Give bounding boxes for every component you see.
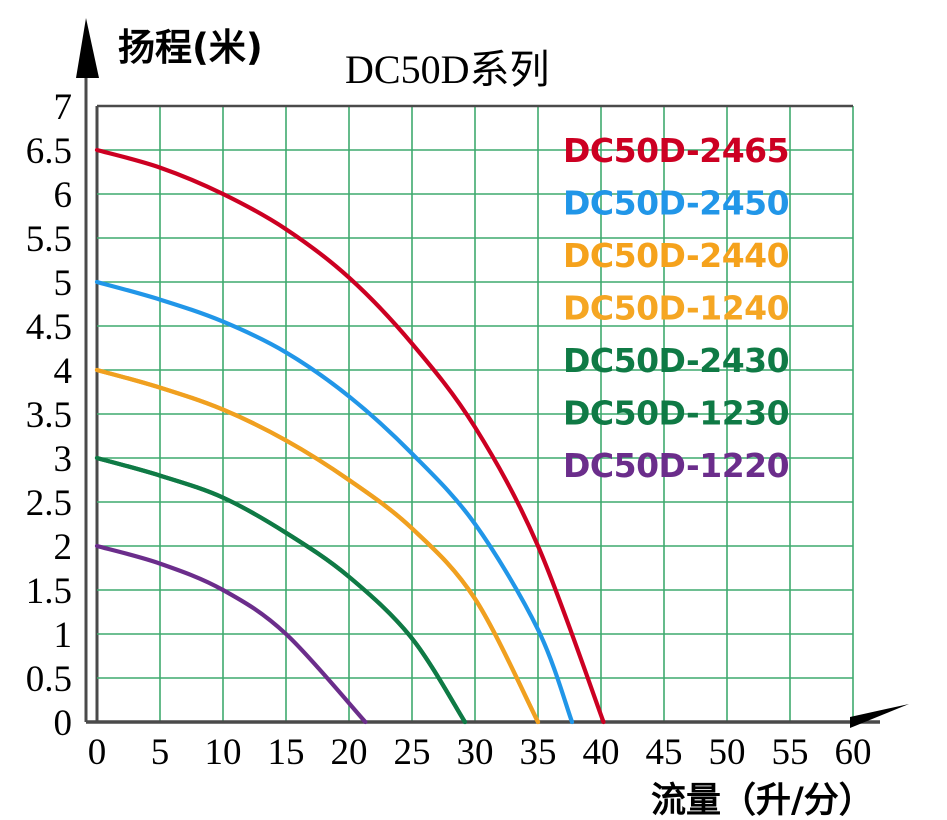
x-tick-label: 35 [520,732,557,773]
legend-item-dc50d-2465: DC50D-2465 [563,131,789,170]
y-tick-label: 2 [54,527,73,568]
chart-title: DC50D系列 [345,47,549,92]
y-tick-label: 5 [54,263,73,304]
y-tick-label: 2.5 [26,483,72,524]
x-axis-title: 流量（升/分） [651,781,874,820]
x-tick-label: 45 [646,732,683,773]
x-tick-label: 15 [268,732,305,773]
legend-item-dc50d-1240: DC50D-1240 [563,289,789,328]
chart-canvas: 76.565.554.543.532.521.510.50 0510152025… [0,0,947,820]
legend-item-dc50d-1220: DC50D-1220 [563,446,789,485]
y-tick-labels: 76.565.554.543.532.521.510.50 [26,87,72,744]
series-curves [97,150,604,722]
y-tick-label: 3.5 [26,395,72,436]
y-tick-label: 6.5 [26,131,72,172]
y-tick-label: 0.5 [26,659,72,700]
x-tick-label: 0 [88,732,107,773]
y-tick-label: 1.5 [26,571,72,612]
legend: DC50D-2465DC50D-2450DC50D-2440DC50D-1240… [563,131,789,485]
x-tick-label: 60 [835,732,872,773]
legend-item-dc50d-2450: DC50D-2450 [563,184,789,223]
x-tick-label: 5 [151,732,170,773]
x-tick-label: 10 [205,732,242,773]
y-tick-label: 4 [54,351,73,392]
y-axis-title: 扬程(米) [118,26,263,69]
y-tick-label: 0 [54,703,73,744]
x-axis-arrow-icon [850,704,909,728]
x-tick-label: 55 [772,732,809,773]
x-tick-label: 30 [457,732,494,773]
pump-performance-chart: 76.565.554.543.532.521.510.50 0510152025… [0,0,947,820]
x-tick-label: 50 [709,732,746,773]
y-tick-label: 5.5 [26,219,72,260]
y-tick-label: 3 [54,439,73,480]
legend-item-dc50d-2430: DC50D-2430 [563,341,789,380]
y-axis-arrow-icon [76,18,99,78]
y-tick-label: 1 [54,615,73,656]
series-curve [97,150,604,722]
x-tick-label: 25 [394,732,431,773]
x-tick-label: 40 [583,732,620,773]
y-tick-label: 6 [54,175,73,216]
x-tick-labels: 051015202530354045505560 [88,732,872,773]
legend-item-dc50d-2440: DC50D-2440 [563,236,789,275]
y-tick-label: 4.5 [26,307,72,348]
y-tick-label: 7 [54,87,73,128]
legend-item-dc50d-1230: DC50D-1230 [563,394,789,433]
x-tick-label: 20 [331,732,368,773]
